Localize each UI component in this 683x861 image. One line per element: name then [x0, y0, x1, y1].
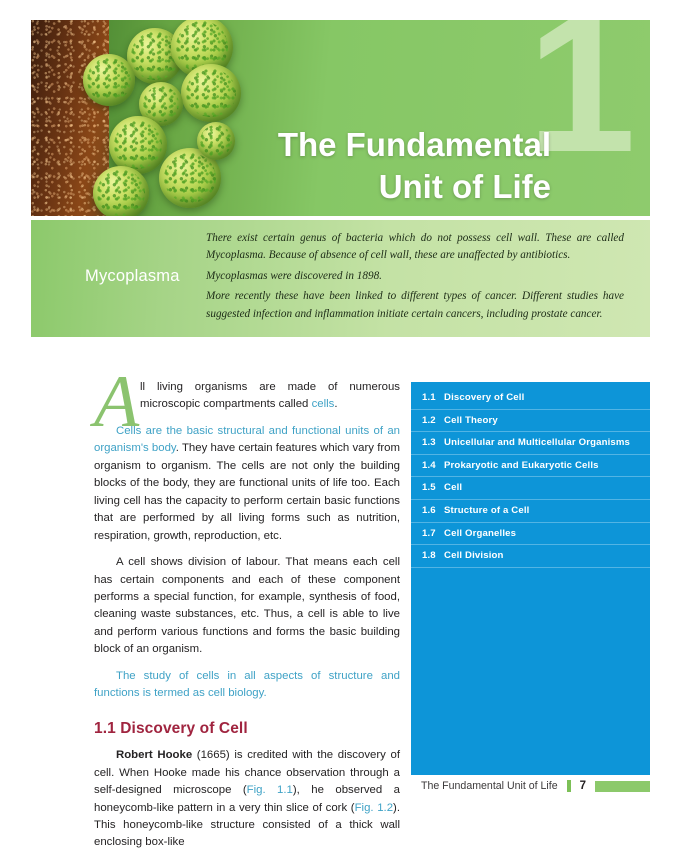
body-paragraph-4: The study of cells in all aspects of str… — [94, 668, 400, 703]
para5-bold-name: Robert Hooke — [116, 749, 192, 761]
chapter-contents-box: 1.1 Discovery of Cell 1.2 Cell Theory 1.… — [411, 382, 650, 775]
toc-label: Cell Organelles — [444, 527, 640, 541]
para1-text-b: . — [334, 398, 337, 410]
toc-item-1-4[interactable]: 1.4 Prokaryotic and Eukaryotic Cells — [411, 455, 650, 478]
body-paragraph-3: A cell shows division of labour. That me… — [94, 554, 400, 659]
para2-text: . They have certain features which vary … — [94, 442, 400, 541]
toc-item-1-3[interactable]: 1.3 Unicellular and Multicellular Organi… — [411, 432, 650, 455]
para1-highlight: cells — [312, 398, 335, 410]
footer-inner: The Fundamental Unit of Life 7 — [421, 780, 650, 792]
section-heading-1-1: 1.1 Discovery of Cell — [94, 717, 400, 741]
toc-number: 1.6 — [422, 504, 444, 518]
toc-number: 1.7 — [422, 527, 444, 541]
footer-green-bar — [595, 781, 650, 792]
body-paragraph-1: ll living organisms are made of numerous… — [94, 379, 400, 414]
note-paragraph: More recently these have been linked to … — [206, 288, 624, 323]
toc-number: 1.1 — [422, 391, 444, 405]
chapter-title: The Fundamental Unit of Life — [181, 124, 551, 208]
page-footer: The Fundamental Unit of Life 7 — [0, 780, 683, 800]
chapter-banner: 1 The Fundamental Unit of Life — [31, 20, 650, 216]
toc-item-1-2[interactable]: 1.2 Cell Theory — [411, 410, 650, 433]
toc-label: Discovery of Cell — [444, 391, 640, 405]
toc-label: Cell Division — [444, 549, 640, 563]
note-box-body: There exist certain genus of bacteria wh… — [206, 230, 624, 326]
bacteria-cell — [93, 166, 149, 216]
footer-separator-tick — [567, 780, 571, 792]
chapter-title-line2: Unit of Life — [181, 166, 551, 208]
toc-label: Cell — [444, 481, 640, 495]
intro-paragraph-block: A ll living organisms are made of numero… — [94, 379, 400, 423]
toc-label: Structure of a Cell — [444, 504, 640, 518]
toc-number: 1.2 — [422, 414, 444, 428]
toc-label: Unicellular and Multicellular Organisms — [444, 436, 640, 450]
toc-number: 1.8 — [422, 549, 444, 563]
toc-item-1-1[interactable]: 1.1 Discovery of Cell — [411, 387, 650, 410]
toc-label: Prokaryotic and Eukaryotic Cells — [444, 459, 640, 473]
footer-chapter-title: The Fundamental Unit of Life — [421, 780, 558, 792]
bacteria-cell — [83, 54, 135, 106]
bacteria-cell — [181, 64, 241, 122]
toc-item-1-6[interactable]: 1.6 Structure of a Cell — [411, 500, 650, 523]
toc-item-1-7[interactable]: 1.7 Cell Organelles — [411, 523, 650, 546]
note-paragraph: Mycoplasmas were discovered in 1898. — [206, 268, 624, 285]
note-box-label: Mycoplasma — [85, 267, 180, 286]
page-number: 7 — [580, 780, 586, 792]
toc-number: 1.4 — [422, 459, 444, 473]
body-paragraph-2: Cells are the basic structural and funct… — [94, 423, 400, 545]
mycoplasma-note-box: Mycoplasma There exist certain genus of … — [31, 220, 650, 337]
para1-text-a: ll living organisms are made of numerous… — [140, 381, 400, 410]
toc-label: Cell Theory — [444, 414, 640, 428]
chapter-title-line1: The Fundamental — [278, 126, 551, 163]
toc-number: 1.5 — [422, 481, 444, 495]
toc-item-1-5[interactable]: 1.5 Cell — [411, 477, 650, 500]
figure-ref-1-2[interactable]: Fig. 1.2 — [355, 802, 393, 814]
toc-item-1-8[interactable]: 1.8 Cell Division — [411, 545, 650, 568]
toc-number: 1.3 — [422, 436, 444, 450]
note-paragraph: There exist certain genus of bacteria wh… — [206, 230, 624, 265]
